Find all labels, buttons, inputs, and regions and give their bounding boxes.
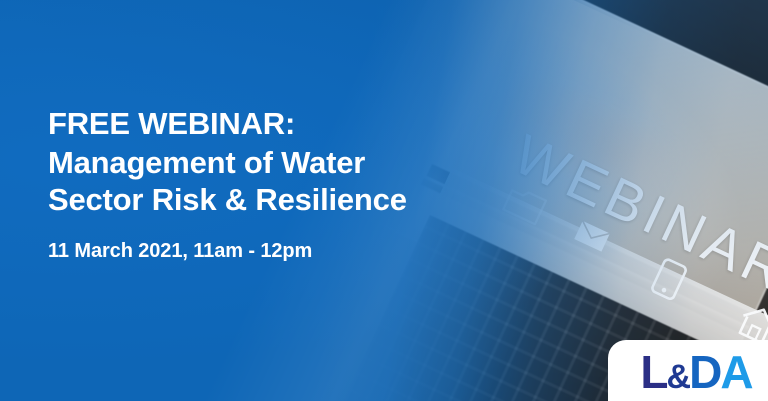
logo-letter-d: D bbox=[689, 349, 720, 395]
logo-letter-a: A bbox=[720, 349, 751, 395]
kicker-text: FREE WEBINAR: bbox=[48, 106, 488, 142]
event-datetime: 11 March 2021, 11am - 12pm bbox=[48, 240, 488, 263]
logo-letter-l: L bbox=[640, 349, 666, 395]
webinar-promo-banner: WEBINAR FREE WEBINAR: Management of Wa bbox=[0, 0, 768, 401]
promo-copy: FREE WEBINAR: Management of Water Sector… bbox=[48, 106, 488, 263]
headline-line-1: Management of Water bbox=[48, 144, 488, 181]
page-title: Management of Water Sector Risk & Resili… bbox=[48, 144, 488, 218]
logo-badge: L & D A bbox=[608, 340, 768, 401]
headline-line-2: Sector Risk & Resilience bbox=[48, 181, 488, 218]
logo-ampersand: & bbox=[667, 360, 690, 394]
lda-logo: L & D A bbox=[640, 349, 751, 395]
